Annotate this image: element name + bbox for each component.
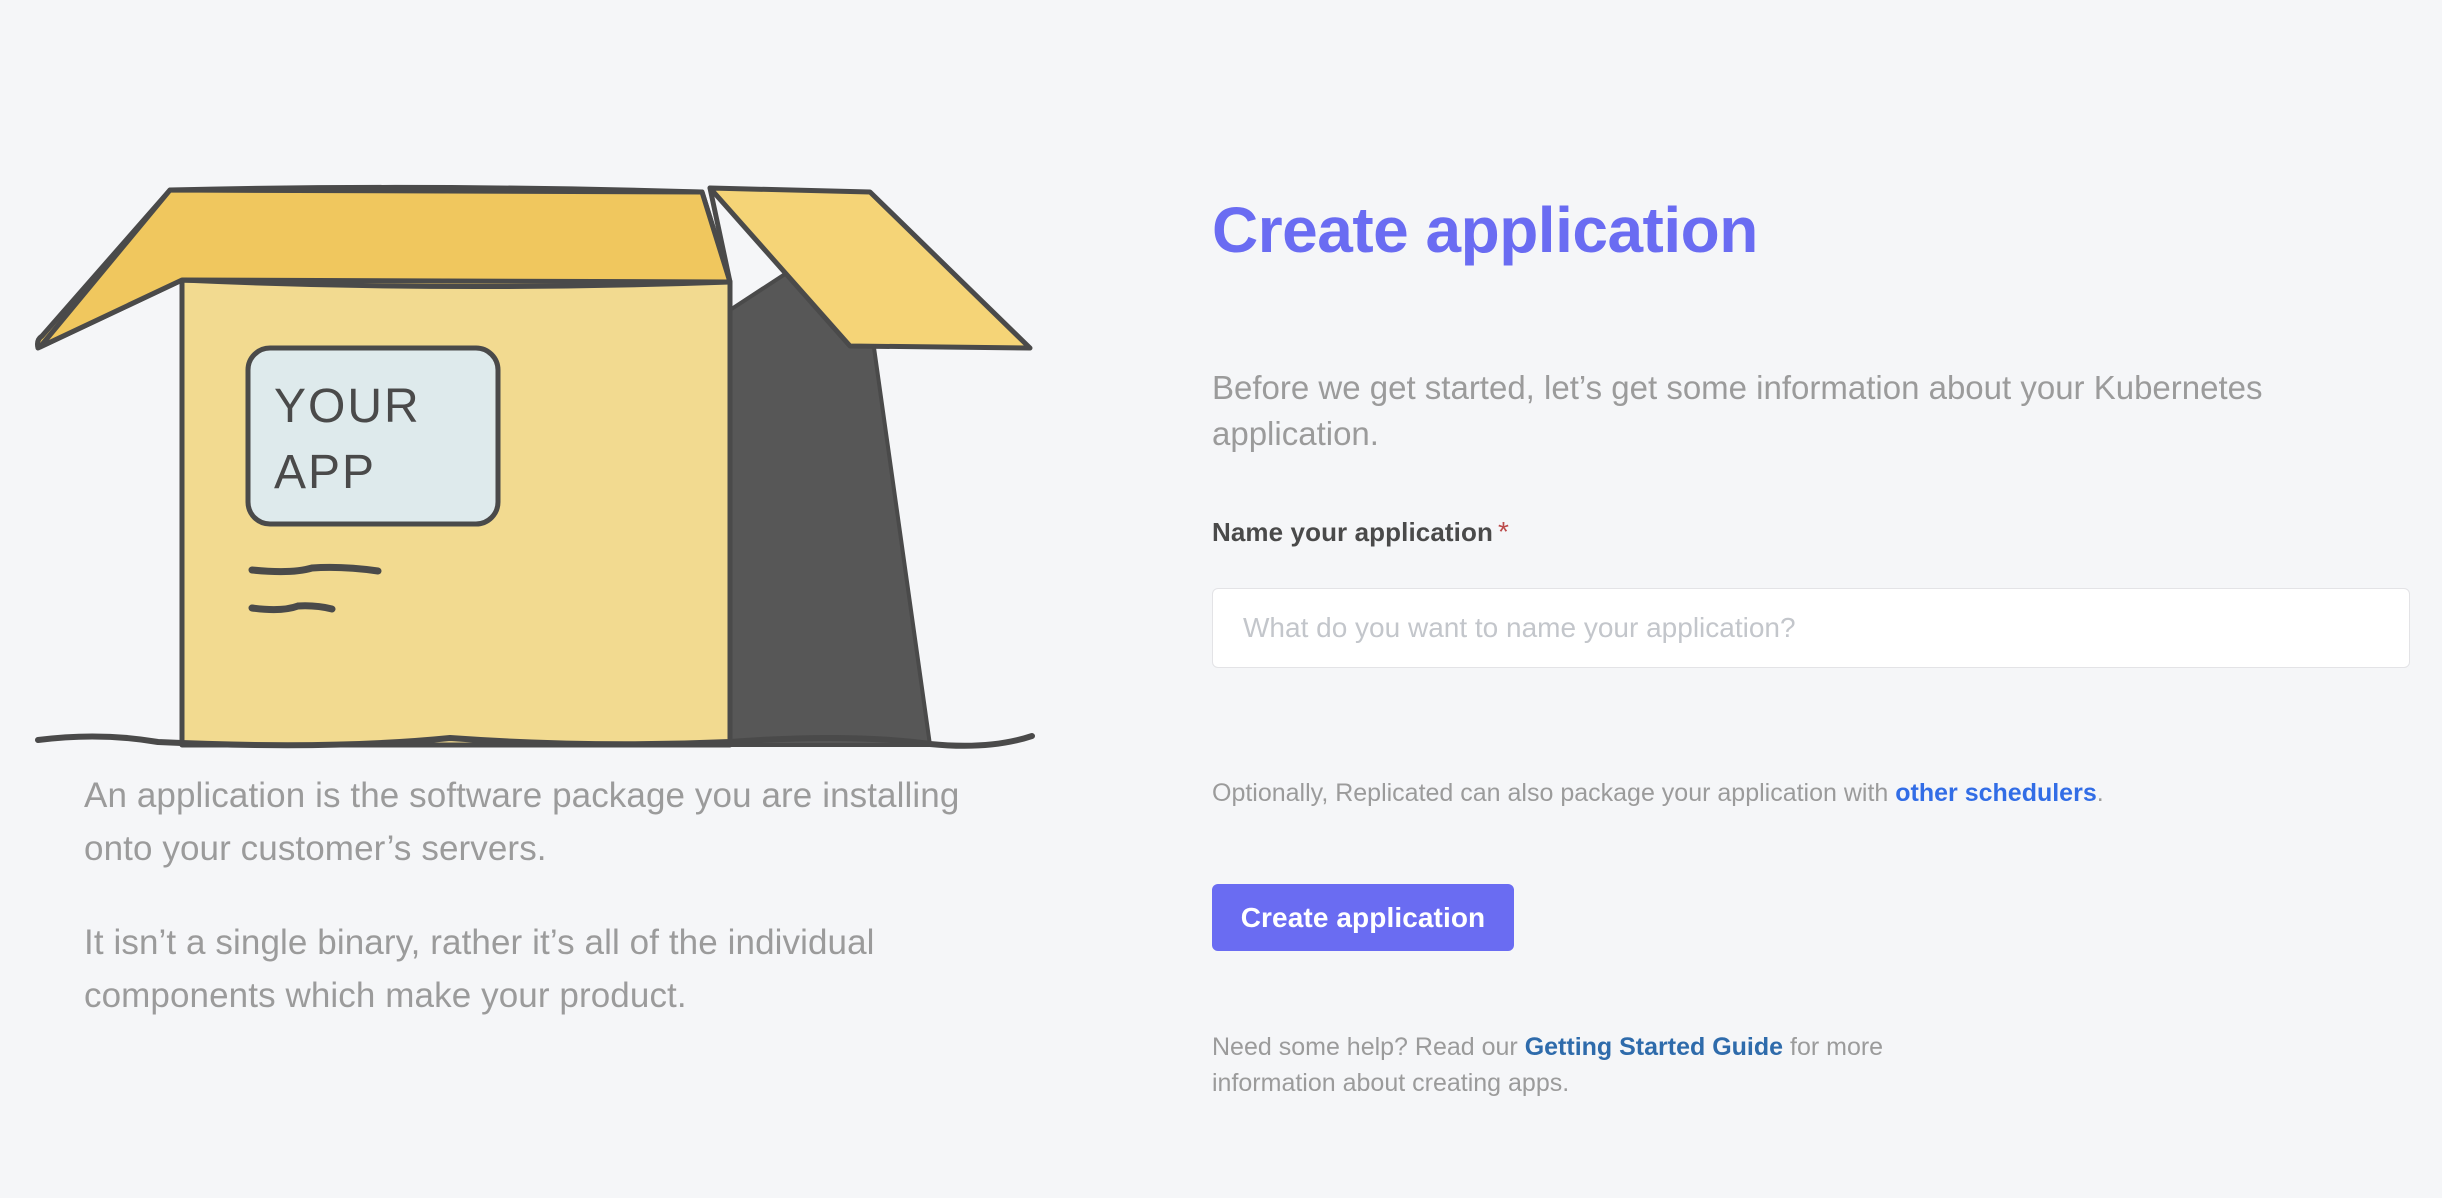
getting-started-guide-link[interactable]: Getting Started Guide — [1525, 1033, 1783, 1061]
create-application-page: YOUR APP An application is the software … — [0, 0, 2442, 1198]
box-dash-line-1 — [252, 567, 378, 571]
create-application-form: Create application Before we get started… — [1212, 0, 2422, 1198]
name-field-label: Name your application* — [1212, 516, 1509, 548]
left-description: An application is the software package y… — [84, 770, 1004, 1022]
page-title: Create application — [1212, 197, 1758, 264]
other-schedulers-link[interactable]: other schedulers — [1895, 779, 2096, 807]
left-paragraph-2: It isn’t a single binary, rather it’s al… — [84, 917, 1004, 1022]
box-label-line-2: APP — [274, 446, 376, 499]
box-dash-line-2 — [252, 606, 332, 610]
required-asterisk: * — [1498, 516, 1509, 547]
left-paragraph-1: An application is the software package y… — [84, 770, 1004, 875]
page-subtitle: Before we get started, let’s get some in… — [1212, 365, 2347, 456]
other-schedulers-note-suffix: . — [2097, 779, 2104, 807]
open-cardboard-box-illustration: YOUR APP — [30, 170, 1040, 750]
box-label-line-1: YOUR — [274, 380, 421, 433]
create-application-button[interactable]: Create application — [1212, 884, 1514, 951]
help-note-prefix: Need some help? Read our — [1212, 1033, 1525, 1061]
other-schedulers-note: Optionally, Replicated can also package … — [1212, 776, 2104, 811]
other-schedulers-note-prefix: Optionally, Replicated can also package … — [1212, 779, 1895, 807]
help-note: Need some help? Read our Getting Started… — [1212, 1030, 2012, 1101]
left-info-panel: YOUR APP An application is the software … — [0, 0, 1110, 1198]
name-field-label-text: Name your application — [1212, 517, 1493, 547]
application-name-input[interactable] — [1212, 588, 2410, 668]
